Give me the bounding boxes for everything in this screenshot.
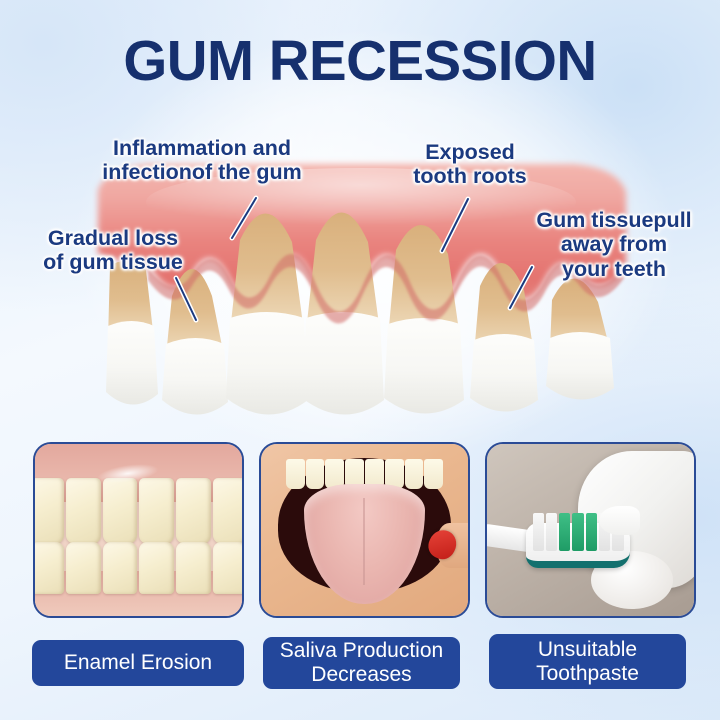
upper-teeth-row: [33, 478, 244, 543]
clinical-teeth-gums-photo: [35, 444, 242, 616]
gum-recession-infographic: GUM RECESSION: [0, 0, 720, 720]
page-title: GUM RECESSION: [4, 28, 717, 94]
photo-card-unsuitable-toothpaste[interactable]: [485, 442, 696, 618]
caption-unsuitable-toothpaste: Unsuitable Toothpaste: [489, 634, 686, 689]
callout-label-gradual-loss: Gradual loss of gum tissue: [16, 226, 210, 275]
mouth-tongue-photo: [261, 444, 468, 616]
leader-line-gradual-loss: [170, 276, 206, 324]
callout-label-exposed-roots: Exposed tooth roots: [396, 140, 544, 189]
leader-line-inflammation: [226, 196, 266, 242]
callout-label-inflammation: Inflammation and infectionof the gum: [78, 136, 326, 185]
caption-enamel-erosion: Enamel Erosion: [32, 640, 244, 686]
tooth-7: [546, 278, 614, 399]
toothbrush-paste-photo: [487, 444, 694, 616]
caption-saliva-production: Saliva Production Decreases: [263, 637, 460, 689]
lower-teeth-row: [33, 542, 244, 594]
photo-card-enamel-erosion[interactable]: [33, 442, 244, 618]
leader-line-exposed-roots: [434, 196, 478, 256]
toothpaste-blob: [599, 506, 640, 535]
photo-card-saliva-production[interactable]: [259, 442, 470, 618]
callout-label-gum-pull-away: Gum tissuepull away from your teeth: [514, 208, 714, 281]
